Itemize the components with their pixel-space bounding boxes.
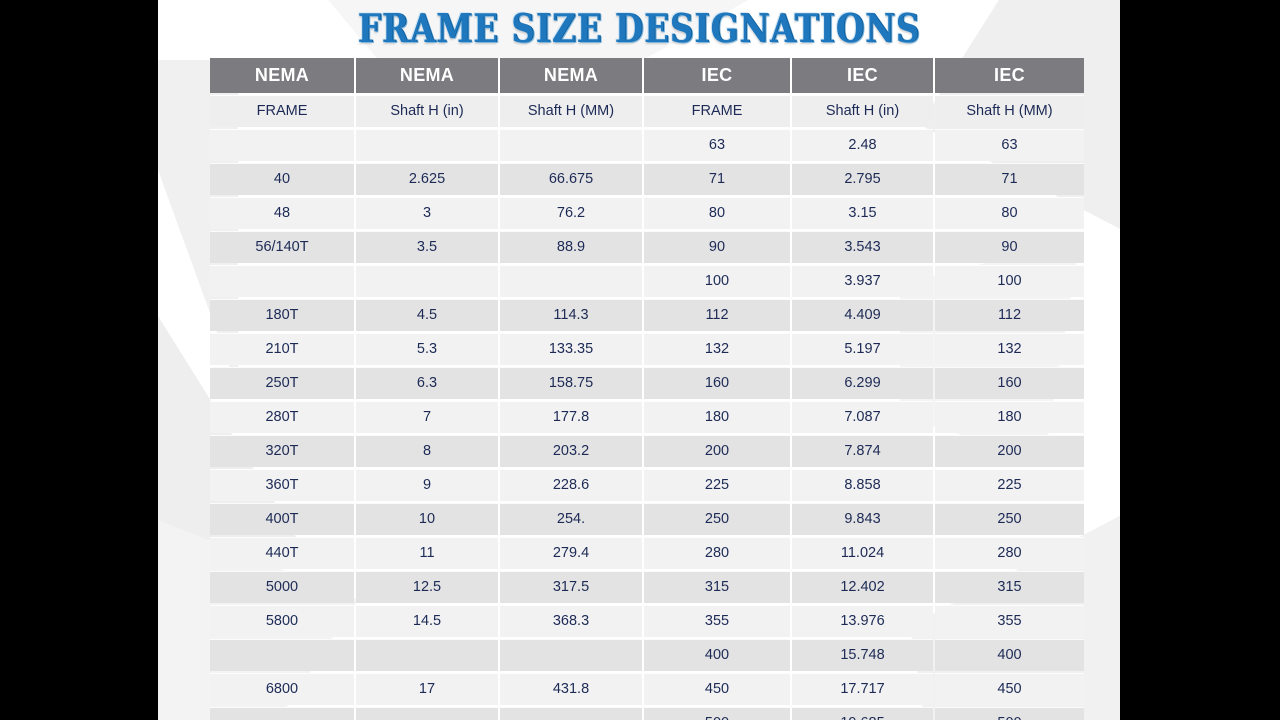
table-cell: 4.5 <box>356 299 498 331</box>
table-cell: 315 <box>644 571 790 603</box>
table-cell: 133.35 <box>500 333 642 365</box>
table-cell <box>500 129 642 161</box>
table-cell: 450 <box>644 673 790 705</box>
table-cell: 317.5 <box>500 571 642 603</box>
table-cell: 6.299 <box>792 367 933 399</box>
table-cell: 132 <box>644 333 790 365</box>
column-header-cell: Shaft H (in) <box>356 95 498 127</box>
table-cell: 450 <box>935 673 1084 705</box>
table-row: 56/140T3.588.9903.54390 <box>210 231 1084 263</box>
table-cell <box>210 639 354 671</box>
table-cell: 8 <box>356 435 498 467</box>
table-cell: 160 <box>644 367 790 399</box>
table-cell: 80 <box>644 197 790 229</box>
table-cell: 10 <box>356 503 498 535</box>
table-cell: 71 <box>935 163 1084 195</box>
table-body: 632.4863402.62566.675712.7957148376.2803… <box>210 129 1084 720</box>
table-cell <box>500 265 642 297</box>
table-cell: 19.685 <box>792 707 933 720</box>
table-cell: 279.4 <box>500 537 642 569</box>
table-cell: 400 <box>644 639 790 671</box>
slide-title: FRAME SIZE DESIGNATIONS <box>192 6 1087 52</box>
table-cell: 6800 <box>210 673 354 705</box>
table-cell: 5.3 <box>356 333 498 365</box>
table-cell: 210T <box>210 333 354 365</box>
table-cell: 500 <box>935 707 1084 720</box>
table-cell: 2.48 <box>792 129 933 161</box>
table-cell: 90 <box>644 231 790 263</box>
table-row: 210T5.3133.351325.197132 <box>210 333 1084 365</box>
table-head: NEMANEMANEMAIECIECIEC FRAMEShaft H (in)S… <box>210 58 1084 127</box>
table-cell: 6.3 <box>356 367 498 399</box>
table-cell: 80 <box>935 197 1084 229</box>
slide-stage: FRAME SIZE DESIGNATIONS NEMANEMANEMAIECI… <box>0 0 1280 720</box>
table-cell: 368.3 <box>500 605 642 637</box>
table-cell: 17 <box>356 673 498 705</box>
table-cell: 17.717 <box>792 673 933 705</box>
table-row: 680017431.845017.717450 <box>210 673 1084 705</box>
table-cell: 3.5 <box>356 231 498 263</box>
table-cell: 2.625 <box>356 163 498 195</box>
slide-canvas: FRAME SIZE DESIGNATIONS NEMANEMANEMAIECI… <box>158 0 1120 720</box>
table-cell: 56/140T <box>210 231 354 263</box>
table-cell: 3.543 <box>792 231 933 263</box>
table-cell: 280 <box>644 537 790 569</box>
table-cell: 225 <box>935 469 1084 501</box>
table-cell: 132 <box>935 333 1084 365</box>
table-row: 280T7177.81807.087180 <box>210 401 1084 433</box>
table-cell: 280 <box>935 537 1084 569</box>
table-cell: 48 <box>210 197 354 229</box>
table-cell: 180 <box>644 401 790 433</box>
table-cell: 5.197 <box>792 333 933 365</box>
table-cell: 250 <box>644 503 790 535</box>
table-cell: 112 <box>644 299 790 331</box>
table-cell: 158.75 <box>500 367 642 399</box>
table-cell: 71 <box>644 163 790 195</box>
column-header-cell: Shaft H (in) <box>792 95 933 127</box>
table-cell: 11 <box>356 537 498 569</box>
table-row: 360T9228.62258.858225 <box>210 469 1084 501</box>
table-cell: 180T <box>210 299 354 331</box>
table-cell: 500 <box>644 707 790 720</box>
table-row: 1003.937100 <box>210 265 1084 297</box>
table-cell <box>210 707 354 720</box>
standard-header-cell: IEC <box>792 58 933 93</box>
standard-header-cell: NEMA <box>500 58 642 93</box>
table-cell: 63 <box>644 129 790 161</box>
table-cell: 400 <box>935 639 1084 671</box>
table-row: 320T8203.22007.874200 <box>210 435 1084 467</box>
table-cell: 7 <box>356 401 498 433</box>
table-cell: 228.6 <box>500 469 642 501</box>
table-cell: 7.874 <box>792 435 933 467</box>
table-row: 48376.2803.1580 <box>210 197 1084 229</box>
standard-header-cell: NEMA <box>210 58 354 93</box>
table-cell: 320T <box>210 435 354 467</box>
table-cell: 7.087 <box>792 401 933 433</box>
standard-header-row: NEMANEMANEMAIECIECIEC <box>210 58 1084 93</box>
table-cell: 66.675 <box>500 163 642 195</box>
table-cell: 12.402 <box>792 571 933 603</box>
table-cell: 112 <box>935 299 1084 331</box>
table-cell: 177.8 <box>500 401 642 433</box>
table-row: 400T10254.2509.843250 <box>210 503 1084 535</box>
frame-size-table: NEMANEMANEMAIECIECIEC FRAMEShaft H (in)S… <box>208 56 1086 720</box>
table-cell: 400T <box>210 503 354 535</box>
table-cell: 203.2 <box>500 435 642 467</box>
table-cell: 3.937 <box>792 265 933 297</box>
column-header-cell: Shaft H (MM) <box>935 95 1084 127</box>
table-cell: 12.5 <box>356 571 498 603</box>
table-row: 250T6.3158.751606.299160 <box>210 367 1084 399</box>
table-cell: 2.795 <box>792 163 933 195</box>
table-cell: 280T <box>210 401 354 433</box>
table-cell: 88.9 <box>500 231 642 263</box>
table-cell: 355 <box>935 605 1084 637</box>
table-cell: 8.858 <box>792 469 933 501</box>
table-row: 440T11279.428011.024280 <box>210 537 1084 569</box>
table-cell: 11.024 <box>792 537 933 569</box>
table-cell: 250 <box>935 503 1084 535</box>
table-cell: 90 <box>935 231 1084 263</box>
table-cell: 4.409 <box>792 299 933 331</box>
table-cell: 15.748 <box>792 639 933 671</box>
standard-header-cell: IEC <box>644 58 790 93</box>
table-cell <box>500 707 642 720</box>
table-cell: 315 <box>935 571 1084 603</box>
table-cell: 160 <box>935 367 1084 399</box>
frame-size-table-wrapper: NEMANEMANEMAIECIECIEC FRAMEShaft H (in)S… <box>208 56 1072 720</box>
table-cell: 100 <box>935 265 1084 297</box>
table-cell: 40 <box>210 163 354 195</box>
table-cell: 13.976 <box>792 605 933 637</box>
table-cell: 100 <box>644 265 790 297</box>
table-cell: 3 <box>356 197 498 229</box>
column-header-cell: FRAME <box>644 95 790 127</box>
table-row: 50019.685500 <box>210 707 1084 720</box>
table-cell <box>210 129 354 161</box>
table-cell: 355 <box>644 605 790 637</box>
standard-header-cell: NEMA <box>356 58 498 93</box>
table-cell: 114.3 <box>500 299 642 331</box>
table-row: 632.4863 <box>210 129 1084 161</box>
table-cell: 440T <box>210 537 354 569</box>
table-cell <box>356 707 498 720</box>
table-row: 180T4.5114.31124.409112 <box>210 299 1084 331</box>
table-cell: 9 <box>356 469 498 501</box>
column-header-row: FRAMEShaft H (in)Shaft H (MM)FRAMEShaft … <box>210 95 1084 127</box>
table-cell: 9.843 <box>792 503 933 535</box>
table-cell: 5000 <box>210 571 354 603</box>
table-cell: 200 <box>644 435 790 467</box>
table-cell: 360T <box>210 469 354 501</box>
table-cell: 200 <box>935 435 1084 467</box>
table-cell: 63 <box>935 129 1084 161</box>
column-header-cell: FRAME <box>210 95 354 127</box>
table-row: 500012.5317.531512.402315 <box>210 571 1084 603</box>
table-cell: 5800 <box>210 605 354 637</box>
column-header-cell: Shaft H (MM) <box>500 95 642 127</box>
table-cell: 250T <box>210 367 354 399</box>
table-cell: 3.15 <box>792 197 933 229</box>
table-cell: 76.2 <box>500 197 642 229</box>
table-cell: 254. <box>500 503 642 535</box>
table-cell <box>356 265 498 297</box>
table-cell <box>210 265 354 297</box>
table-row: 40015.748400 <box>210 639 1084 671</box>
table-cell: 431.8 <box>500 673 642 705</box>
table-cell: 14.5 <box>356 605 498 637</box>
table-cell: 225 <box>644 469 790 501</box>
table-row: 580014.5368.335513.976355 <box>210 605 1084 637</box>
table-cell <box>356 129 498 161</box>
standard-header-cell: IEC <box>935 58 1084 93</box>
table-cell: 180 <box>935 401 1084 433</box>
table-row: 402.62566.675712.79571 <box>210 163 1084 195</box>
table-cell <box>500 639 642 671</box>
table-cell <box>356 639 498 671</box>
